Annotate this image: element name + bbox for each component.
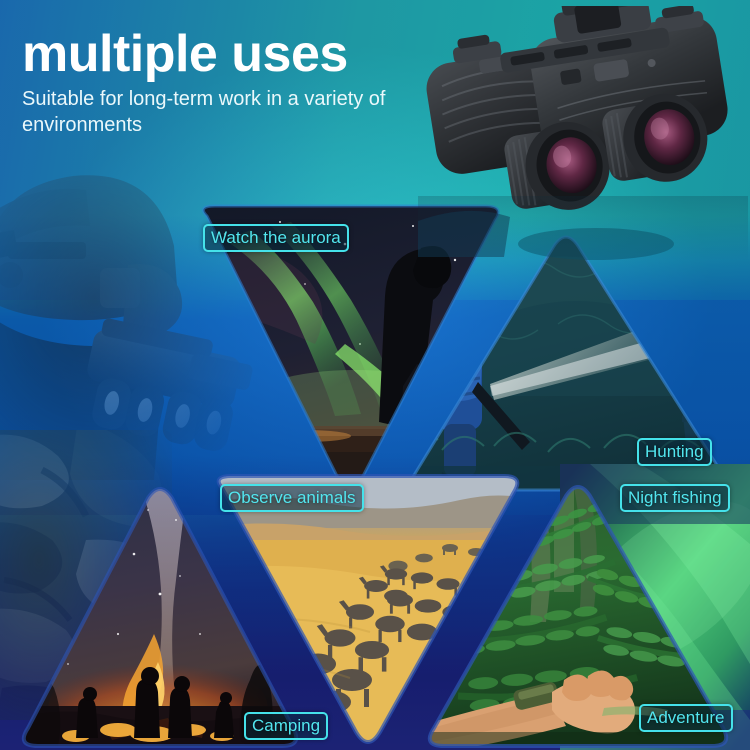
scene-mosaic [0,196,750,750]
scene-label-night-fishing[interactable]: Night fishing [620,484,730,512]
promo-banner: multiple uses Suitable for long-term wor… [0,0,750,750]
scene-label-hunting[interactable]: Hunting [637,438,712,466]
scene-label-observe-animals[interactable]: Observe animals [220,484,364,512]
page-title: multiple uses [22,26,462,82]
scene-label-camping[interactable]: Camping [244,712,328,740]
scene-label-adventure[interactable]: Adventure [639,704,733,732]
product-binoculars-image [418,6,748,261]
scene-label-aurora[interactable]: Watch the aurora [203,224,349,252]
page-subtitle: Suitable for long-term work in a variety… [22,86,462,138]
scene-tile-camping[interactable] [14,484,306,750]
headline-block: multiple uses Suitable for long-term wor… [22,26,462,138]
